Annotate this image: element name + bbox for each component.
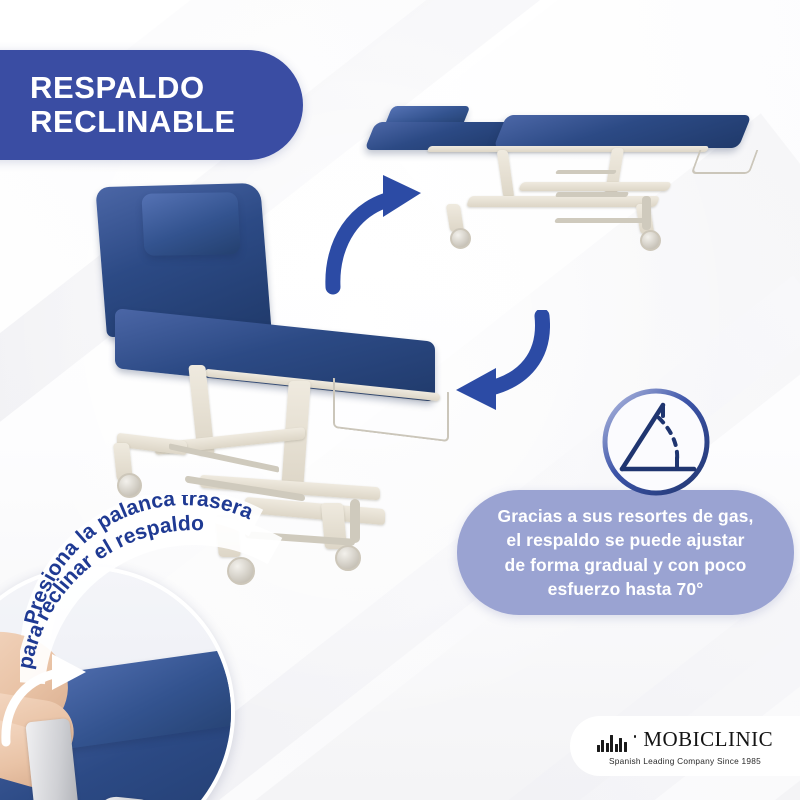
title-line-1: RESPALDO bbox=[30, 71, 236, 105]
logo-tagline: Spanish Leading Company Since 1985 bbox=[609, 756, 761, 766]
gas-spring bbox=[555, 170, 617, 174]
title-banner: RESPALDO RECLINABLE bbox=[0, 50, 303, 160]
info-panel-text: Gracias a sus resortes de gas, el respal… bbox=[482, 504, 770, 601]
logo-row: MOBICLINIC bbox=[597, 727, 773, 752]
frame-cross-bar bbox=[518, 182, 672, 191]
brand-logo: MOBICLINIC Spanish Leading Company Since… bbox=[570, 716, 800, 776]
info-line-3: de forma gradual y con poco bbox=[498, 553, 754, 577]
castor-wheel bbox=[640, 230, 661, 251]
foot-rail bbox=[691, 150, 759, 174]
arrow-recline-up bbox=[325, 175, 435, 300]
bars-logo-icon bbox=[597, 735, 627, 752]
pedal-lever bbox=[350, 499, 360, 543]
marketing-graphic: RESPALDO RECLINABLE bbox=[0, 0, 800, 800]
curved-caption: Presiona la palanca trasera para reclina… bbox=[20, 495, 350, 715]
info-line-2: el respaldo se puede ajustar bbox=[498, 528, 754, 552]
title-text: RESPALDO RECLINABLE bbox=[30, 71, 236, 139]
info-line-4: esfuerzo hasta 70° bbox=[498, 577, 754, 601]
seat-section bbox=[493, 115, 751, 148]
angle-measure-icon bbox=[597, 383, 715, 501]
gas-spring bbox=[555, 192, 629, 197]
arrow-recline-down bbox=[430, 310, 550, 415]
logo-trademark-dot bbox=[634, 735, 637, 738]
info-line-1: Gracias a sus resortes de gas, bbox=[498, 504, 754, 528]
mattress-base bbox=[427, 146, 709, 152]
title-line-2: RECLINABLE bbox=[30, 105, 236, 139]
pedal-lever bbox=[642, 196, 651, 230]
pillow bbox=[141, 192, 240, 256]
pedal-bar bbox=[554, 218, 651, 223]
logo-wordmark: MOBICLINIC bbox=[643, 727, 773, 752]
gas-spring bbox=[169, 443, 279, 472]
info-panel: Gracias a sus resortes de gas, el respal… bbox=[457, 490, 794, 615]
